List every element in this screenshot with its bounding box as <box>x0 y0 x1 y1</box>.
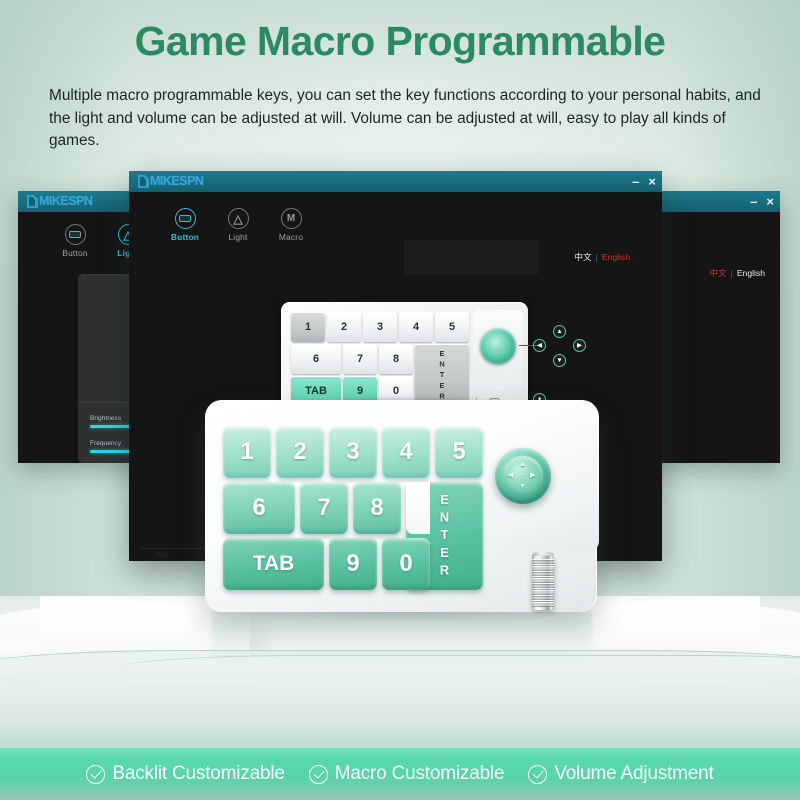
tab-light[interactable]: △ Light <box>219 208 257 242</box>
feature-backlit: Backlit Customizable <box>86 763 284 785</box>
background-label: Ctrl <box>157 552 167 559</box>
left-tab-button-label: Button <box>56 248 94 258</box>
diagram-key-1[interactable]: 1 <box>291 312 325 342</box>
diagram-key-7[interactable]: 7 <box>343 344 377 374</box>
joystick-center-icon: ↕ <box>520 472 524 479</box>
product-key-7[interactable]: 7 <box>300 482 348 534</box>
product-joystick-cap: ▲ ◀ ▶ ▼ ↕ <box>503 456 543 496</box>
page-title: Game Macro Programmable <box>0 18 800 65</box>
product-key-3[interactable]: 3 <box>329 426 377 478</box>
diagram-key-5[interactable]: 5 <box>435 312 469 342</box>
page-subtitle: Multiple macro programmable keys, you ca… <box>49 85 761 153</box>
macro-m-icon: M <box>281 208 302 229</box>
product-joystick[interactable]: ▲ ◀ ▶ ▼ ↕ <box>495 448 551 504</box>
product-keypad: 1 2 3 4 5 6 7 8 ENTER TAB 9 0 ▲ ◀ ▶ ▼ ↕ <box>205 400 597 612</box>
tab-light-label: Light <box>219 232 257 242</box>
product-key-2[interactable]: 2 <box>276 426 324 478</box>
language-chinese[interactable]: 中文 <box>574 251 591 263</box>
diagram-key-enter[interactable]: ENTER <box>415 344 469 406</box>
tab-macro[interactable]: M Macro <box>272 208 310 242</box>
diagram-key-4[interactable]: 4 <box>399 312 433 342</box>
product-key-5[interactable]: 5 <box>435 426 483 478</box>
product-key-4[interactable]: 4 <box>382 426 430 478</box>
main-window-titlebar[interactable]: MIKESPN – × <box>129 171 662 192</box>
main-window-logo-text: MIKESPN <box>150 175 203 188</box>
joystick-left-arrow-icon: ◀ <box>508 472 513 479</box>
feature-bar: Backlit Customizable Macro Customizable … <box>0 748 800 800</box>
product-key-tab[interactable]: TAB <box>223 538 324 590</box>
background-artwork <box>139 548 209 549</box>
diagram-key-2[interactable]: 2 <box>327 312 361 342</box>
diagram-key-3[interactable]: 3 <box>363 312 397 342</box>
tab-button-label: Button <box>166 232 204 242</box>
joystick-down-arrow-icon: ▼ <box>519 483 526 490</box>
product-enter-notch <box>406 482 430 534</box>
logo-mark-icon <box>138 175 149 188</box>
product-key-1[interactable]: 1 <box>223 426 271 478</box>
keyboard-icon <box>65 224 86 245</box>
diagram-key-6[interactable]: 6 <box>291 344 341 374</box>
product-key-0[interactable]: 0 <box>382 538 430 590</box>
left-tab-button[interactable]: Button <box>56 224 94 258</box>
product-reflection <box>212 610 592 680</box>
bulb-icon: △ <box>228 208 249 229</box>
check-circle-icon <box>528 765 547 784</box>
dpad-left-button[interactable]: ◀ <box>533 339 546 352</box>
right-close-button[interactable]: × <box>766 195 774 208</box>
language-english[interactable]: English <box>737 268 765 278</box>
dpad-down-button[interactable]: ▼ <box>553 354 566 367</box>
diagram-joystick-cap <box>485 333 510 358</box>
check-circle-icon <box>86 765 105 784</box>
keyboard-icon <box>175 208 196 229</box>
minimize-button[interactable]: – <box>632 175 639 188</box>
background-artwork <box>404 240 539 274</box>
main-window-logo: MIKESPN <box>138 175 203 189</box>
main-window-toolbar: Button △ Light M Macro <box>166 208 310 242</box>
product-volume-knob[interactable] <box>532 556 554 610</box>
logo-sparkle-icon <box>34 192 38 196</box>
tab-button[interactable]: Button <box>166 208 204 242</box>
logo-mark-icon <box>27 195 38 208</box>
language-separator: | <box>596 252 598 262</box>
dpad-cluster: ▲ ◀ ▶ ▼ <box>533 325 587 379</box>
feature-volume: Volume Adjustment <box>528 763 713 785</box>
tab-macro-label: Macro <box>272 232 310 242</box>
feature-macro: Macro Customizable <box>309 763 505 785</box>
joystick-right-arrow-icon: ▶ <box>530 472 535 479</box>
dpad-up-button[interactable]: ▲ <box>553 325 566 338</box>
product-key-6[interactable]: 6 <box>223 482 295 534</box>
promo-stage: Game Macro Programmable Multiple macro p… <box>0 0 800 800</box>
dpad-right-button[interactable]: ▶ <box>573 339 586 352</box>
diagram-key-8[interactable]: 8 <box>379 344 413 374</box>
product-key-9[interactable]: 9 <box>329 538 377 590</box>
language-chinese[interactable]: 中文 <box>709 267 726 279</box>
product-key-8[interactable]: 8 <box>353 482 401 534</box>
language-separator: | <box>731 268 733 278</box>
right-minimize-button[interactable]: – <box>750 195 757 208</box>
feature-backlit-label: Backlit Customizable <box>112 763 284 785</box>
main-window-controls[interactable]: – × <box>632 171 656 192</box>
feature-volume-label: Volume Adjustment <box>554 763 713 785</box>
right-window-controls[interactable]: – × <box>750 191 774 212</box>
left-window-logo: MIKESPN <box>27 195 92 209</box>
feature-macro-label: Macro Customizable <box>335 763 505 785</box>
main-language-switch[interactable]: 中文 | English <box>574 251 630 263</box>
language-english[interactable]: English <box>602 252 630 262</box>
check-circle-icon <box>309 765 328 784</box>
left-window-logo-text: MIKESPN <box>39 195 92 208</box>
close-button[interactable]: × <box>648 175 656 188</box>
diagram-joystick[interactable] <box>480 328 516 364</box>
joystick-up-arrow-icon: ▲ <box>519 461 526 468</box>
right-language-switch[interactable]: 中文 | English <box>709 267 765 279</box>
logo-sparkle-icon <box>145 172 149 176</box>
